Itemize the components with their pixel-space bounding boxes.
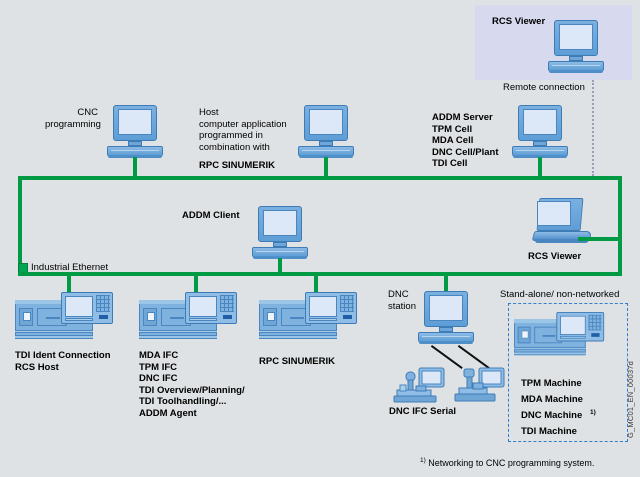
machine-rail-lower	[259, 335, 337, 339]
monitor-screen	[118, 109, 152, 135]
keyboard-base	[419, 341, 473, 344]
hmi-status-led	[99, 315, 108, 319]
standalone-item-tdi-machine: TDI Machine	[521, 426, 577, 438]
ethernet-riser-right	[618, 176, 622, 272]
addm-server-drop-line	[538, 157, 542, 178]
machine-rail-lower	[139, 335, 217, 339]
hmi-keypad	[96, 295, 110, 312]
hmi-screen	[560, 316, 586, 335]
addm-server-desktop-pc-icon	[512, 105, 568, 158]
rpc-sinumerik-label: RPC SINUMERIK	[259, 356, 335, 368]
host-computer-desktop-pc-icon	[298, 105, 354, 158]
machine-panel-left	[19, 308, 33, 326]
rcs-viewer-laptop-label: RCS Viewer	[528, 251, 581, 263]
rcs-viewer-desktop-pc-icon	[548, 20, 604, 73]
cnc-programming-drop-line	[133, 157, 137, 178]
hmi-keypad	[340, 295, 354, 312]
industrial-ethernet-bus-top	[18, 176, 622, 180]
mda-ifc-machine-hmi-icon	[139, 292, 239, 340]
dnc-station-label: DNC station	[388, 289, 416, 312]
machine-rail-upper	[139, 330, 217, 333]
cnc-programming-desktop-pc-icon	[107, 105, 163, 158]
ethernet-riser-left	[18, 176, 22, 272]
industrial-ethernet-bus-bottom	[18, 272, 622, 276]
host-computer-label: Host computer application programmed in …	[199, 107, 287, 153]
machine-rail-upper	[259, 330, 337, 333]
machine-rail-lower	[15, 335, 93, 339]
monitor-screen	[263, 210, 297, 236]
machine-rail-upper	[15, 330, 93, 333]
diagram-canvas: RCS Viewer Remote connection CNC program…	[0, 0, 640, 477]
standalone-item-mda-machine: MDA Machine	[521, 394, 583, 406]
hmi-keypad	[589, 315, 602, 331]
tdi-ident-drop-line	[67, 272, 71, 292]
hmi-softkey-bar	[560, 336, 586, 339]
dnc-station-drop-line	[444, 272, 448, 292]
remote-connection-label: Remote connection	[503, 82, 585, 94]
tdi-ident-machine-hmi-icon	[15, 292, 115, 340]
addm-client-drop-line	[278, 258, 282, 272]
remote-rcs-viewer-label: RCS Viewer	[492, 16, 545, 28]
monitor-screen	[523, 109, 557, 135]
hmi-softkey-bar	[65, 318, 93, 321]
addm-client-desktop-pc-icon	[252, 206, 308, 259]
standalone-heading: Stand-alone/ non-networked	[500, 289, 619, 301]
machine-panel-left	[263, 308, 277, 326]
hmi-screen	[65, 296, 93, 317]
cnc-programming-label: CNC programming	[45, 107, 98, 130]
hmi-status-led	[591, 333, 599, 337]
machine-panel-left	[518, 327, 531, 344]
hmi-screen	[189, 296, 217, 317]
hmi-status-led	[343, 315, 352, 319]
hmi-keypad	[220, 295, 234, 312]
dnc-ifc-serial-label: DNC IFC Serial	[389, 406, 456, 418]
footnote: 1) Networking to CNC programming system.	[410, 447, 594, 477]
addm-client-label: ADDM Client	[182, 210, 240, 222]
laptop-screen	[537, 201, 571, 226]
mda-ifc-drop-line	[194, 272, 198, 292]
host-computer-rpc-label: RPC SINUMERIK	[199, 160, 275, 172]
monitor-screen	[559, 24, 593, 50]
remote-connection-dotted-line	[592, 80, 594, 176]
addm-server-label: ADDM Server TPM Cell MDA Cell DNC Cell/P…	[432, 112, 499, 170]
machine-rail-upper	[514, 347, 586, 350]
document-id-label: G_MC01_EN_00037d	[626, 361, 635, 438]
host-computer-drop-line	[324, 157, 328, 178]
dnc-station-desktop-pc-icon	[418, 291, 474, 344]
dnc-serial-cnc-machine-icon-right	[452, 366, 506, 406]
monitor-screen	[309, 109, 343, 135]
standalone-machine-hmi-icon	[514, 312, 606, 356]
rpc-sinumerik-machine-hmi-icon	[259, 292, 359, 340]
hmi-screen	[309, 296, 337, 317]
keyboard-base	[549, 70, 603, 73]
footnote-text: Networking to CNC programming system.	[426, 458, 595, 468]
rcs-viewer-laptop-link	[578, 237, 620, 241]
hmi-softkey-bar	[309, 318, 337, 321]
tdi-ident-connection-label: TDI Ident Connection RCS Host	[15, 350, 111, 373]
standalone-item-dnc-machine: DNC Machine	[521, 410, 582, 422]
mda-ifc-label: MDA IFC TPM IFC DNC IFC TDI Overview/Pla…	[139, 350, 245, 420]
hmi-status-led	[223, 315, 232, 319]
standalone-item-tpm-machine: TPM Machine	[521, 378, 582, 390]
hmi-softkey-bar	[189, 318, 217, 321]
standalone-item-dnc-machine-footnote-marker: 1)	[590, 407, 596, 419]
machine-panel-left	[143, 308, 157, 326]
dnc-serial-cnc-machine-icon-left	[392, 366, 446, 406]
monitor-screen	[429, 295, 463, 321]
rpc-sinumerik-drop-line	[314, 272, 318, 292]
machine-rail-lower	[514, 352, 586, 356]
